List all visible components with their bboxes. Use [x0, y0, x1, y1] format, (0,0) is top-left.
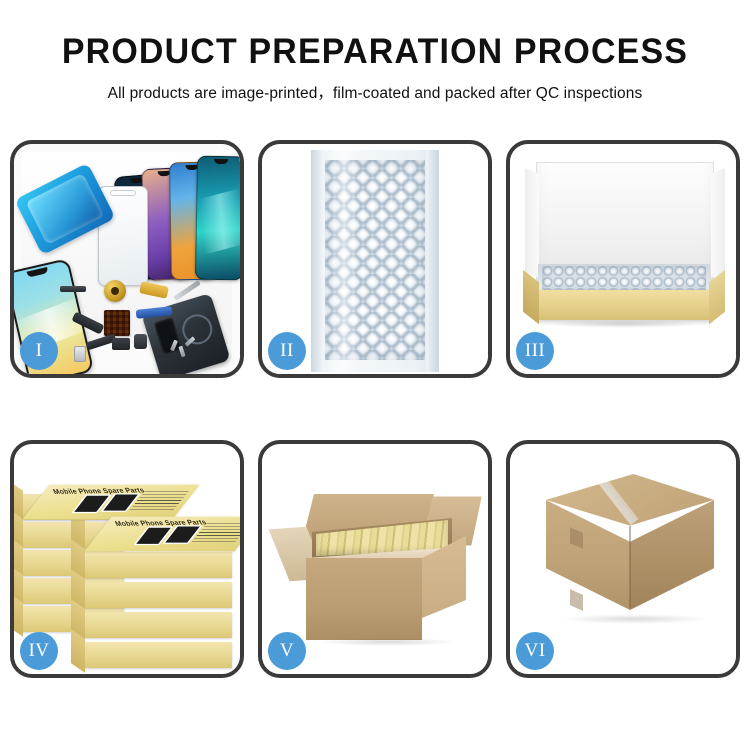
step-panel-5: V	[258, 440, 492, 678]
process-step-grid: I II III	[10, 140, 740, 678]
retail-box	[82, 642, 232, 668]
earpiece-speaker-part	[60, 286, 86, 292]
loudspeaker-part	[112, 338, 130, 350]
carton-drop-shadow	[560, 614, 710, 624]
bubble-wrap-sleeve	[311, 150, 439, 372]
flex-cable-dark-1	[71, 311, 104, 334]
step-badge-5: V	[268, 632, 306, 670]
step-badge-2: II	[268, 332, 306, 370]
spare-parts-cluster	[68, 282, 200, 374]
box-drop-shadow	[544, 320, 704, 328]
vibration-motor-part	[104, 280, 126, 302]
circuit-board-part	[104, 310, 130, 336]
open-shipping-carton	[284, 474, 470, 644]
page-subtitle: All products are image-printed，film-coat…	[0, 81, 750, 103]
sleeve-highlight	[329, 150, 359, 372]
sleeve-seam-left	[311, 150, 324, 372]
step-badge-6: VI	[516, 632, 554, 670]
bubble-wrapped-product	[542, 266, 706, 292]
retail-box	[82, 612, 232, 638]
page-title: PRODUCT PREPARATION PROCESS	[11, 34, 739, 71]
retail-box	[82, 552, 232, 578]
step-panel-4: Mobile Phone Spare Parts Mobile Phone Sp…	[10, 440, 244, 678]
sleeve-seam-right	[426, 150, 439, 372]
sealed-shipping-carton	[530, 474, 722, 640]
step-badge-3: III	[516, 332, 554, 370]
carton-drop-shadow	[318, 638, 458, 646]
kraft-box-front	[536, 290, 712, 320]
camera-module-part	[134, 334, 147, 349]
step-panel-6: VI	[506, 440, 740, 678]
step-panel-3: III	[506, 140, 740, 378]
flex-cable-gold	[139, 281, 169, 299]
step-panel-2: II	[258, 140, 492, 378]
retail-box-lid-top: Mobile Phone Spare Parts	[84, 517, 240, 552]
step-badge-4: IV	[20, 632, 58, 670]
sim-tray-part	[74, 346, 86, 362]
carton-front-face	[306, 558, 422, 640]
step-badge-1: I	[20, 332, 58, 370]
repair-tool	[173, 280, 201, 301]
step-panel-1: I	[10, 140, 244, 378]
retail-box	[82, 582, 232, 608]
carton-handle-tab-lower	[570, 589, 583, 611]
page-header: PRODUCT PREPARATION PROCESS All products…	[0, 0, 750, 103]
screw-1	[170, 340, 178, 352]
screw-3	[185, 336, 196, 346]
retail-box-lid-top: Mobile Phone Spare Parts	[22, 485, 199, 520]
screw-2	[178, 346, 185, 358]
flex-cable-blue	[136, 306, 173, 319]
carton-vertical-seam	[629, 526, 631, 608]
phone-screen-teal	[195, 156, 240, 281]
